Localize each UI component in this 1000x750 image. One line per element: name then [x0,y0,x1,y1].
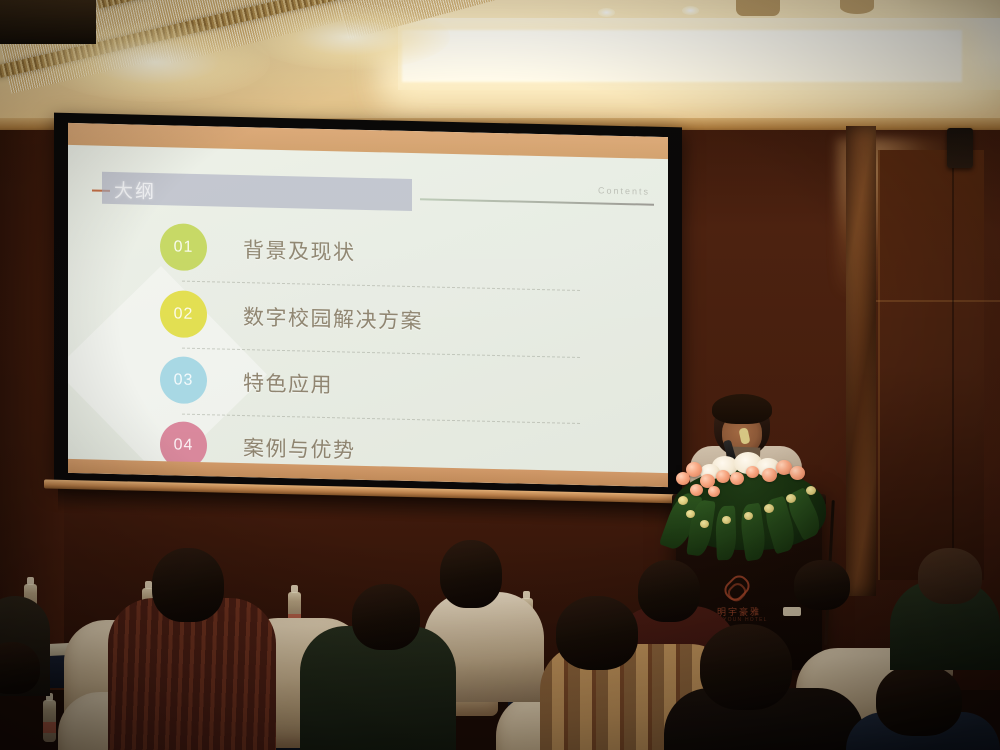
attendee-head [918,548,982,604]
orchid-spray [786,494,796,503]
rose-flower [708,486,720,497]
list-item: 01 背景及现状 [160,223,580,295]
water-bottle [43,700,56,742]
attendee-head [440,540,502,608]
header-subtitle: Contents [598,185,650,196]
rose-flower [730,472,744,485]
rose-flower [716,470,730,483]
item-number-bubble: 01 [160,223,207,271]
bottle-label [43,722,56,733]
item-label: 数字校园解决方案 [243,301,423,335]
rose-flower [746,466,759,478]
chandelier-glow [250,4,450,70]
item-number-bubble: 02 [160,290,207,338]
rose-flower [676,472,690,485]
attendee-head [556,596,638,670]
orchid-spray [744,512,753,520]
downlight-icon [598,8,615,17]
attendee-head [638,560,700,622]
list-item: 02 数字校园解决方案 [160,290,580,362]
wall-speaker [947,128,973,168]
ceiling-vent [840,0,874,14]
cove-light-core [402,30,962,82]
downlight-icon [682,6,699,15]
orchid-spray [806,486,816,495]
rose-flower [790,466,805,480]
list-item: 03 特色应用 [160,356,580,428]
item-label: 案例与优势 [243,432,356,465]
item-label: 背景及现状 [243,234,356,267]
slide-canvas: 大纲 Contents 01 背景及现状 02 数字校园解决方案 03 [68,123,668,487]
attendee-head [876,664,962,736]
orchid-spray [686,510,695,518]
rose-flower [690,484,703,496]
projection-screen: 大纲 Contents 01 背景及现状 02 数字校园解决方案 03 [54,113,682,498]
marble-pilaster [846,126,876,596]
header-rule [420,198,654,205]
orchid-spray [764,504,774,513]
ceiling-fixture-box [0,0,96,44]
leaf [715,506,737,561]
wall-panel-seam [952,150,954,580]
slide-content: 大纲 Contents 01 背景及现状 02 数字校园解决方案 03 [68,145,668,473]
page-title: 大纲 [114,176,156,204]
ceiling-vent [736,0,780,16]
attendee-head [352,584,420,650]
attendee-head [152,548,224,622]
item-label: 特色应用 [243,367,333,399]
attendee-head [794,560,850,610]
item-divider [182,281,580,291]
orchid-spray [700,520,709,528]
conference-room-photo: 大纲 Contents 01 背景及现状 02 数字校园解决方案 03 [0,0,1000,750]
item-number-bubble: 03 [160,356,207,404]
rose-flower [762,468,777,482]
projected-slide: 大纲 Contents 01 背景及现状 02 数字校园解决方案 03 [68,123,668,487]
podium-clip [783,607,801,616]
wall-panel-seam [876,300,1000,302]
orchid-spray [722,516,731,524]
wall-panel-right [878,150,984,580]
orchid-spray [678,496,688,505]
presenter-hair [712,394,772,424]
attendee-head [700,624,792,710]
